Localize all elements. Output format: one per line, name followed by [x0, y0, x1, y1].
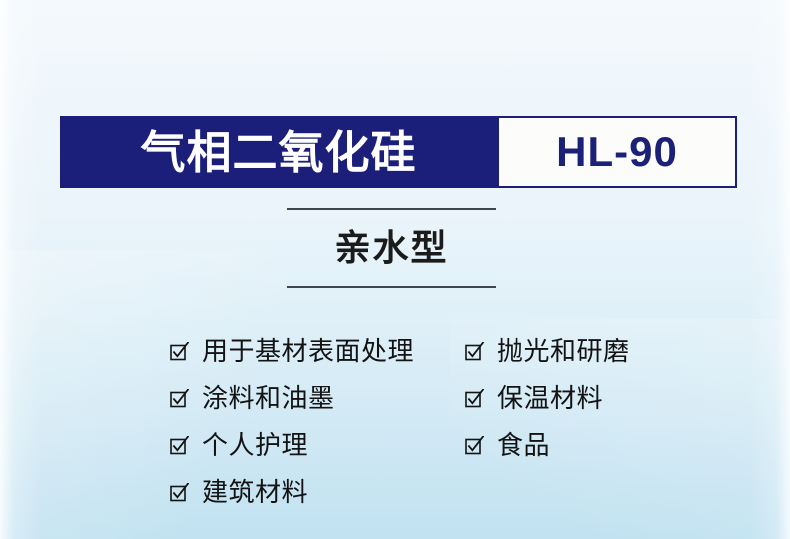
subtitle-rule-bottom — [287, 286, 496, 288]
feature-item: 保温材料 — [465, 374, 690, 421]
feature-label: 食品 — [497, 432, 550, 458]
checked-checkbox-icon — [170, 389, 189, 408]
checked-checkbox-icon — [465, 436, 484, 455]
feature-item: 抛光和研磨 — [465, 327, 690, 374]
checked-checkbox-icon — [170, 483, 189, 502]
feature-label: 建筑材料 — [202, 479, 308, 505]
feature-item: 用于基材表面处理 — [170, 327, 465, 374]
feature-label: 涂料和油墨 — [202, 385, 335, 411]
feature-label: 保温材料 — [497, 385, 603, 411]
product-banner: 气相二氧化硅 HL-90 亲水型 用于基材表面处理 — [0, 0, 790, 539]
feature-column-left: 用于基材表面处理 涂料和油墨 个人护理 — [170, 327, 465, 515]
feature-column-right: 抛光和研磨 保温材料 食品 — [465, 327, 690, 468]
feature-label: 个人护理 — [202, 432, 308, 458]
feature-item: 个人护理 — [170, 421, 465, 468]
subtitle-block: 亲水型 — [287, 208, 496, 288]
feature-label: 抛光和研磨 — [497, 338, 630, 364]
product-name-text: 气相二氧化硅 — [140, 130, 416, 175]
checked-checkbox-icon — [170, 342, 189, 361]
grade-code-chip: HL-90 — [497, 116, 737, 188]
checked-checkbox-icon — [170, 436, 189, 455]
subtitle-text: 亲水型 — [287, 210, 496, 286]
feature-item: 食品 — [465, 421, 690, 468]
feature-lists: 用于基材表面处理 涂料和油墨 个人护理 — [170, 327, 690, 515]
title-row: 气相二氧化硅 HL-90 — [60, 116, 737, 188]
grade-code-text: HL-90 — [556, 131, 678, 173]
checked-checkbox-icon — [465, 342, 484, 361]
product-name-chip: 气相二氧化硅 — [60, 116, 497, 188]
feature-item: 建筑材料 — [170, 468, 465, 515]
checked-checkbox-icon — [465, 389, 484, 408]
feature-item: 涂料和油墨 — [170, 374, 465, 421]
feature-label: 用于基材表面处理 — [202, 338, 414, 364]
